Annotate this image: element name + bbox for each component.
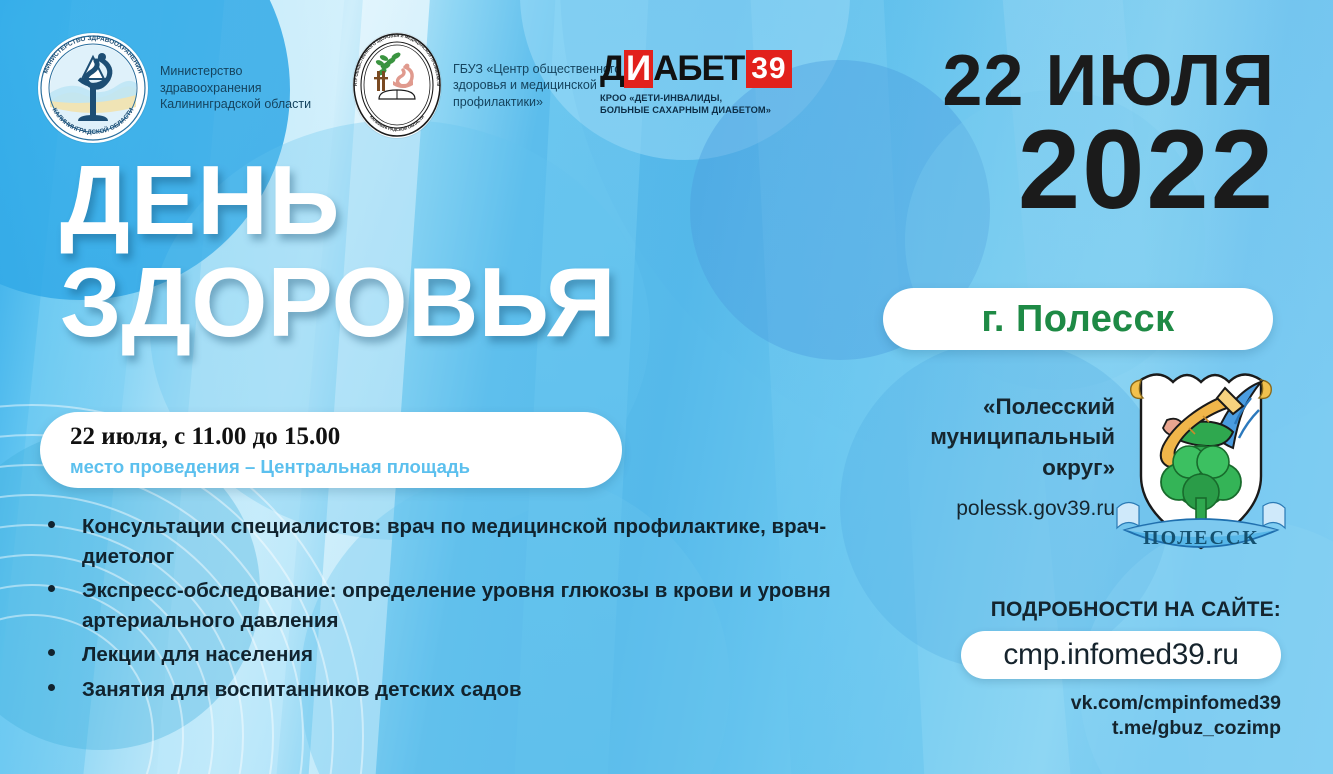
health-day-poster: МИНИСТЕРСТВО ЗДРАВООХРАНЕНИЯ КАЛИНИНГРАД… (0, 0, 1333, 774)
diabet39-subtitle: КРОО «ДЕТИ-ИНВАЛИДЫ, БОЛЬНЫЕ САХАРНЫМ ДИ… (600, 93, 820, 117)
ministry-health-seal-icon: МИНИСТЕРСТВО ЗДРАВООХРАНЕНИЯ КАЛИНИНГРАД… (38, 33, 148, 143)
list-item: Консультации специалистов: врач по медиц… (42, 512, 872, 571)
district-info: «Полесский муниципальный округ» polessk.… (930, 392, 1115, 523)
details-block: ПОДРОБНОСТИ НА САЙТЕ: cmp.infomed39.ru v… (961, 598, 1281, 742)
ministry-logo-label: Министерство здравоохранения Калининград… (160, 63, 325, 113)
ministry-logo: МИНИСТЕРСТВО ЗДРАВООХРАНЕНИЯ КАЛИНИНГРАД… (38, 33, 325, 143)
vk-link[interactable]: vk.com/cmpinfomed39 (961, 691, 1281, 716)
activities-list: Консультации специалистов: врач по медиц… (42, 512, 872, 709)
date-headline-day-month: 22 ИЮЛЯ (942, 48, 1275, 116)
telegram-link[interactable]: t.me/gbuz_cozimp (961, 716, 1281, 741)
list-item: Занятия для воспитанников детских садов (42, 675, 872, 705)
diabet39-logo: Д И АБЕТ 39 КРОО «ДЕТИ-ИНВАЛИДЫ, БОЛЬНЫЕ… (600, 50, 820, 117)
activity-text: Экспресс-обследование: определение уровн… (42, 576, 872, 635)
event-date-time: 22 июля, с 11.00 до 15.00 (70, 423, 622, 451)
district-website[interactable]: polessk.gov39.ru (930, 495, 1115, 523)
activity-text: Занятия для воспитанников детских садов (42, 675, 872, 705)
event-date-headline: 22 ИЮЛЯ 2022 (942, 48, 1275, 221)
public-health-center-seal-icon: ЦЕНТР ОБЩЕСТВЕННОГО ЗДОРОВЬЯ И МЕДИЦИНСК… (353, 33, 441, 138)
activity-text: Лекции для населения (42, 640, 872, 670)
date-headline-year: 2022 (942, 118, 1275, 221)
page-title: ДЕНЬ ЗДОРОВЬЯ (60, 152, 616, 350)
diabet39-subtitle-line1: КРОО «ДЕТИ-ИНВАЛИДЫ, (600, 93, 820, 105)
details-label: ПОДРОБНОСТИ НА САЙТЕ: (961, 598, 1281, 622)
list-item: Экспресс-обследование: определение уровн… (42, 576, 872, 635)
website-pill[interactable]: cmp.infomed39.ru (961, 631, 1281, 679)
diabet-part2: АБЕТ (653, 50, 744, 88)
diabet-part1: Д (600, 50, 624, 88)
event-time-pill: 22 июля, с 11.00 до 15.00 место проведен… (40, 412, 622, 488)
diabet39-wordmark: Д И АБЕТ 39 (600, 50, 820, 88)
event-venue: место проведения – Центральная площадь (70, 457, 622, 477)
city-label: г. Полесск (981, 298, 1174, 341)
diabet-highlight-letter: И (624, 50, 653, 88)
district-line-1: «Полесский (930, 392, 1115, 422)
website-url[interactable]: cmp.infomed39.ru (1003, 638, 1238, 672)
title-line-1: ДЕНЬ (60, 152, 616, 248)
public-health-center-logo: ЦЕНТР ОБЩЕСТВЕННОГО ЗДОРОВЬЯ И МЕДИЦИНСК… (353, 33, 628, 138)
district-line-2: муниципальный (930, 422, 1115, 452)
logo-row: МИНИСТЕРСТВО ЗДРАВООХРАНЕНИЯ КАЛИНИНГРАД… (38, 33, 628, 143)
activity-text: Консультации специалистов: врач по медиц… (42, 512, 872, 571)
diabet-badge-39: 39 (746, 50, 791, 88)
district-line-3: округ» (930, 453, 1115, 483)
title-line-2: ЗДОРОВЬЯ (60, 254, 616, 350)
coat-ribbon-text: ПОЛЕСCК (1143, 527, 1259, 549)
bullet-dot-icon (48, 684, 55, 691)
social-links: vk.com/cmpinfomed39 t.me/gbuz_cozimp (961, 691, 1281, 742)
city-pill: г. Полесск (883, 288, 1273, 350)
list-item: Лекции для населения (42, 640, 872, 670)
polessk-coat-of-arms-icon: ПОЛЕСCК (1111, 358, 1291, 573)
diabet39-subtitle-line2: БОЛЬНЫЕ САХАРНЫМ ДИАБЕТОМ» (600, 105, 820, 117)
